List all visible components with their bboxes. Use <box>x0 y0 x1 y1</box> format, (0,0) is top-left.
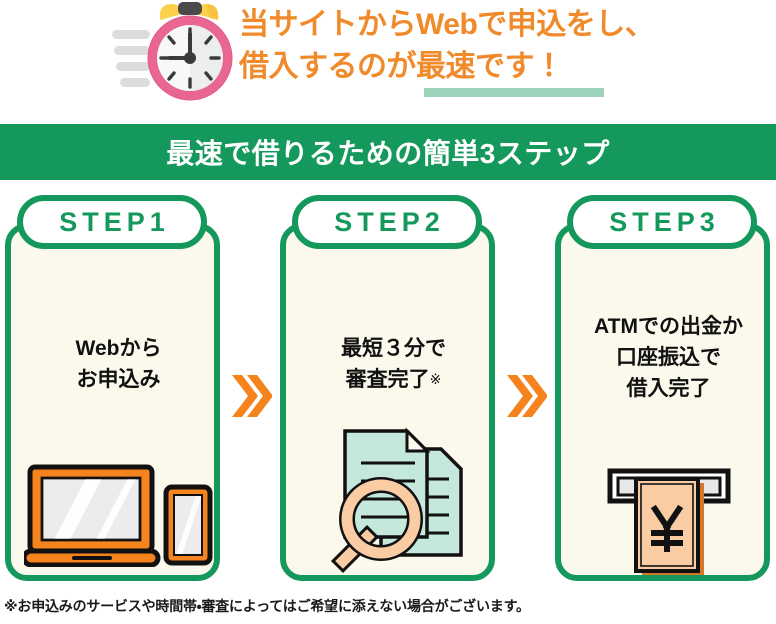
laptop-and-smartphone-icon <box>11 457 226 567</box>
step-card-2-line-1: 最短３分で <box>286 333 501 364</box>
hero-section: 当サイトからWebで申込をし、 借入するのが最速です！ <box>0 0 776 118</box>
banner-title: 最速で借りるための簡単3ステップ <box>166 132 610 172</box>
step-card-1-line-2: お申込み <box>11 364 226 395</box>
step-badge-1-label: STEP1 <box>54 207 170 238</box>
hero-headline-line-2-plain: 借入するのが <box>239 50 416 83</box>
step-badge-1: STEP1 <box>17 195 207 249</box>
magnifier-documents-icon <box>286 427 501 577</box>
hero-headline-line-1: 当サイトからWebで申込をし、 <box>239 4 759 46</box>
step-badge-3: STEP3 <box>567 195 757 249</box>
step-card-2-line-2: 審査完了 <box>346 368 430 391</box>
hero-headline-emphasis: 最速です！ <box>416 46 564 88</box>
atm-cash-dispenser-icon <box>561 465 776 580</box>
hero-headline-line-2: 借入するのが最速です！ <box>239 46 759 88</box>
step-card-1-text: Webから お申込み <box>11 333 226 395</box>
step-badge-2-label: STEP2 <box>329 207 445 238</box>
step-badge-2: STEP2 <box>292 195 482 249</box>
step-badge-3-label: STEP3 <box>604 207 720 238</box>
step-card-2-note-mark: ※ <box>430 371 442 387</box>
hero-headline: 当サイトからWebで申込をし、 借入するのが最速です！ <box>239 4 759 88</box>
step-card-2-line-2-wrap: 審査完了※ <box>286 364 501 395</box>
double-chevron-right-icon-1 <box>232 373 272 419</box>
double-chevron-right-icon-2 <box>507 373 547 419</box>
step-card-1[interactable]: Webから お申込み <box>5 223 220 581</box>
section-banner: 最速で借りるための簡単3ステップ <box>0 124 776 180</box>
step-card-3[interactable]: ATMでの出金か 口座振込で 借入完了 <box>555 223 770 581</box>
step-card-1-line-1: Webから <box>11 333 226 364</box>
step-card-2[interactable]: 最短３分で 審査完了※ <box>280 223 495 581</box>
step-card-2-text: 最短３分で 審査完了※ <box>286 333 501 395</box>
step-card-3-text: ATMでの出金か 口座振込で 借入完了 <box>561 311 776 404</box>
step-card-3-line-1: ATMでの出金か <box>561 311 776 342</box>
steps-section: Webから お申込み <box>0 195 776 585</box>
step-card-3-line-3: 借入完了 <box>561 373 776 404</box>
stopwatch-icon <box>112 2 240 106</box>
footnote-text: ※お申込みのサービスや時間帯・審査によってはご希望に添えない場合がございます。 <box>4 596 772 616</box>
step-card-3-line-2: 口座振込で <box>561 342 776 373</box>
hero-underline-marker <box>424 88 604 97</box>
